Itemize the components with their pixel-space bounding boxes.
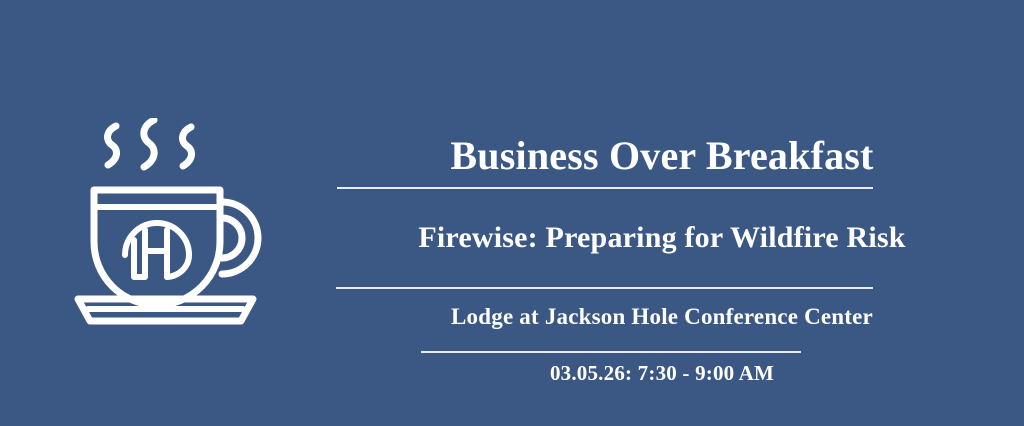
steam-curl-right [182,127,191,166]
divider-rule-bottom [421,351,801,353]
cup-handle-inner [222,218,242,258]
coffee-cup-logo [72,118,292,333]
event-title: Business Over Breakfast [300,133,1024,179]
event-datetime: 03.05.26: 7:30 - 9:00 AM [300,360,1024,386]
event-text-block: Business Over Breakfast Firewise: Prepar… [300,0,1024,426]
event-banner: Business Over Breakfast Firewise: Prepar… [0,0,1024,426]
divider-rule-top [337,187,873,189]
event-venue: Lodge at Jackson Hole Conference Center [300,303,1024,331]
coffee-cup-icon [72,118,292,333]
steam-curl-center [144,120,154,167]
jh-monogram [125,223,189,277]
steam-curl-left [107,126,116,165]
divider-rule-middle [336,287,873,289]
event-topic: Firewise: Preparing for Wildfire Risk [300,220,1024,256]
